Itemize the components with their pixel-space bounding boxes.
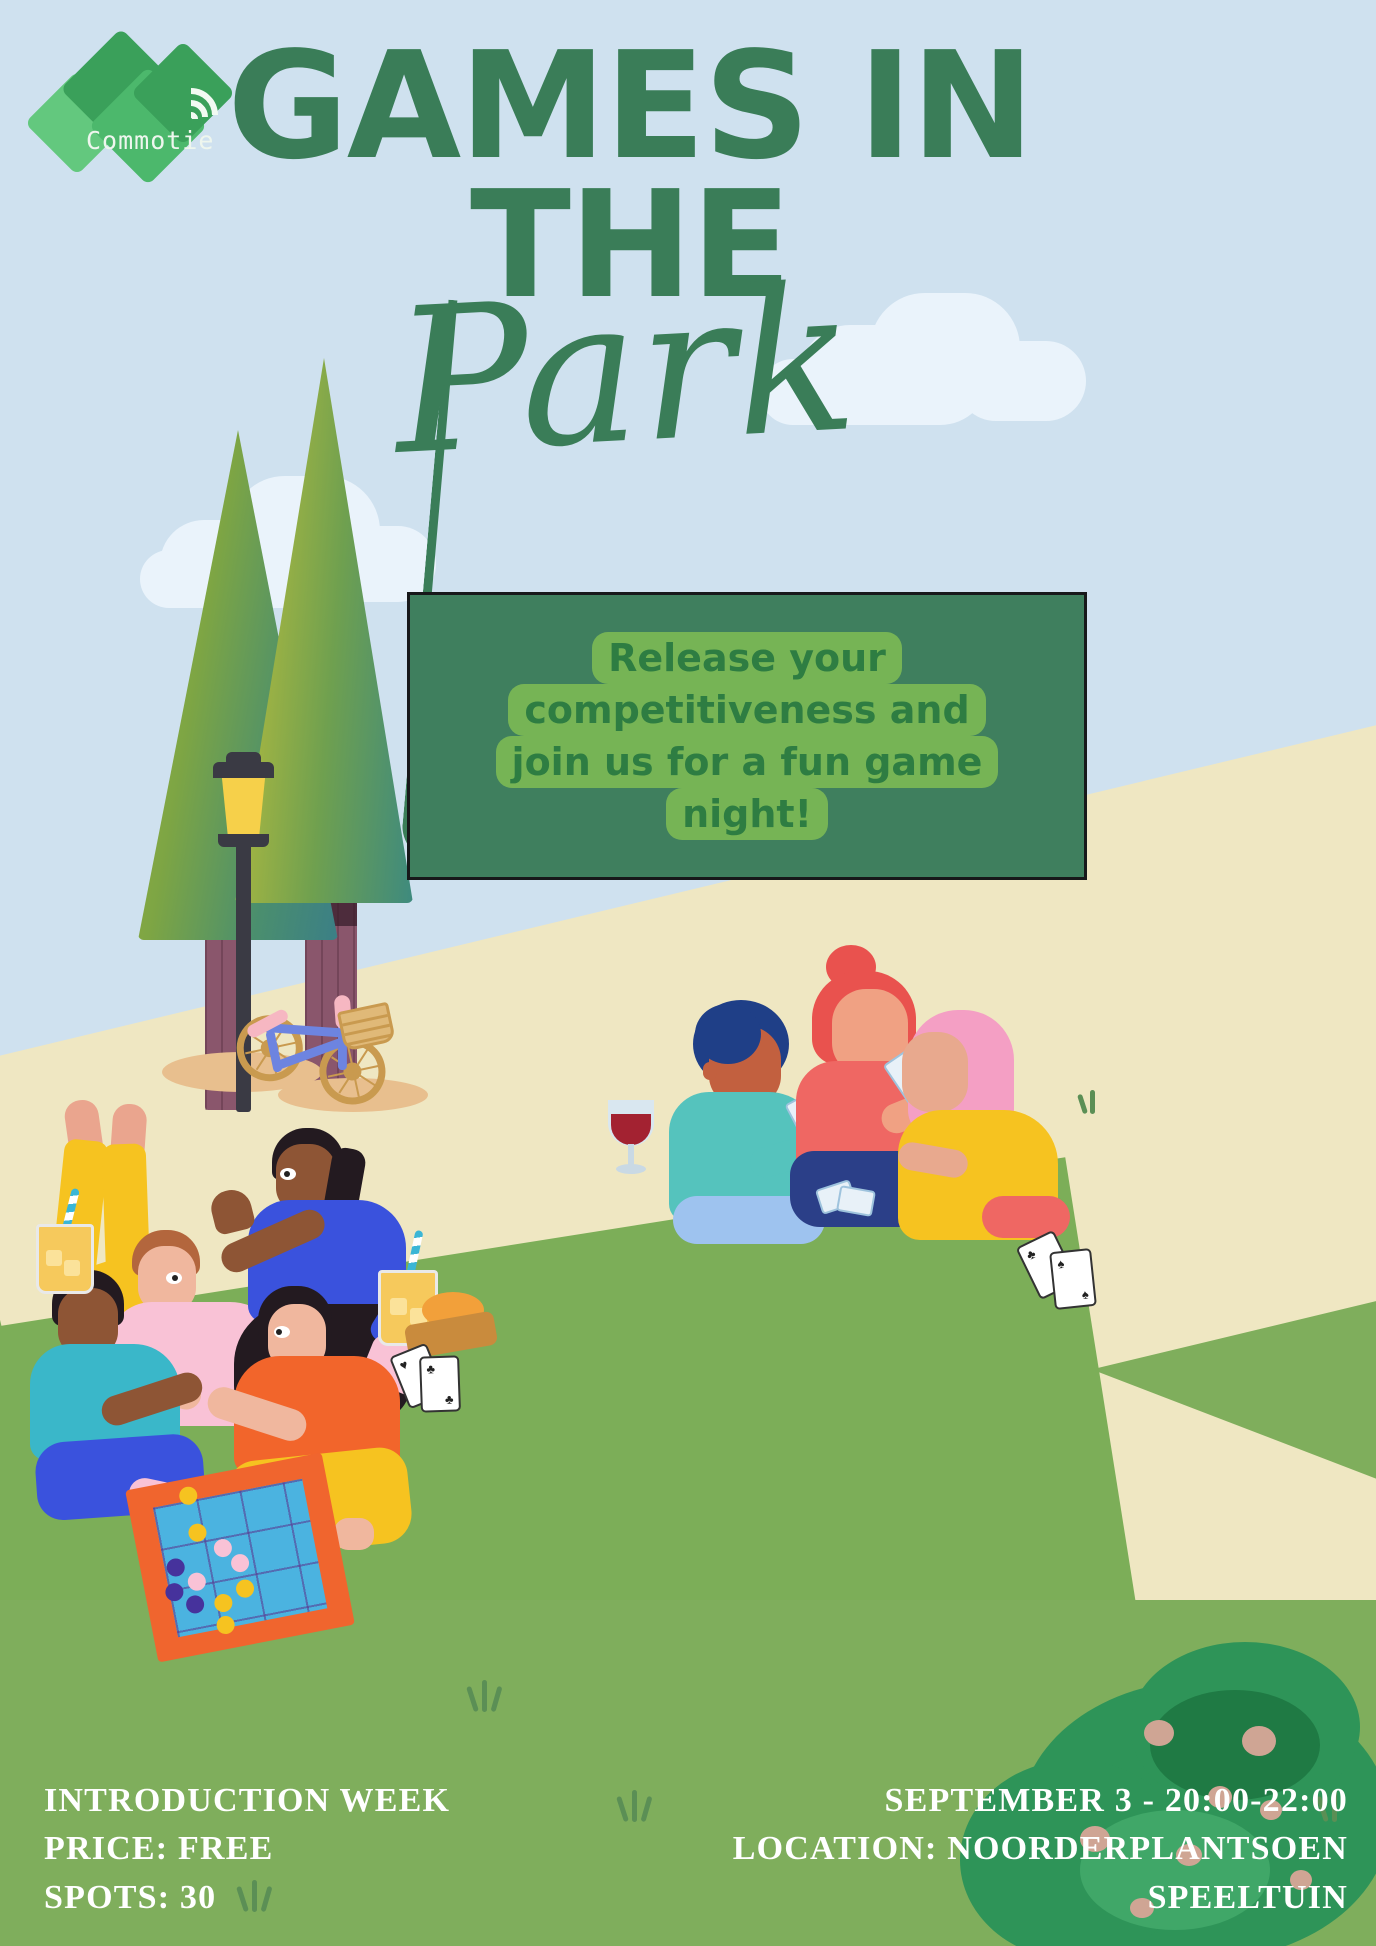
- playing-card-scatter: ♣ ♣: [419, 1355, 461, 1412]
- callout-line: Release your: [592, 632, 902, 684]
- poster-canvas: Commotie GAMES IN THE Park Release your …: [0, 0, 1376, 1946]
- title-script-word: Park: [385, 260, 865, 484]
- footer: INTRODUCTION WEEK PRICE: FREE SPOTS: 30 …: [0, 1746, 1376, 1946]
- footer-left-block: INTRODUCTION WEEK PRICE: FREE SPOTS: 30: [44, 1777, 450, 1922]
- person-foot: [334, 1518, 374, 1550]
- callout-box: Release your competitiveness and join us…: [407, 592, 1087, 880]
- playing-card-scatter: ♠ ♠: [1049, 1248, 1097, 1310]
- footer-left-line: PRICE: FREE: [44, 1825, 450, 1873]
- callout-line: night!: [666, 788, 828, 840]
- callout-line: join us for a fun game: [496, 736, 999, 788]
- person-pupil: [276, 1329, 282, 1335]
- wine-glass-base: [616, 1164, 646, 1174]
- card-player-right: [898, 1010, 1068, 1245]
- wine-glass-stem: [628, 1144, 634, 1166]
- callout-text-stack: Release your competitiveness and join us…: [410, 595, 1084, 877]
- footer-right-line: SEPTEMBER 3 - 20:00-22:00: [733, 1777, 1348, 1825]
- player-hair-front: [695, 1004, 761, 1064]
- bush-flower: [1144, 1720, 1174, 1746]
- board-game: [125, 1453, 355, 1663]
- footer-left-line: INTRODUCTION WEEK: [44, 1777, 450, 1825]
- footer-left-line: SPOTS: 30: [44, 1874, 450, 1922]
- grass-tuft: [1080, 1090, 1110, 1116]
- ice-cube: [46, 1250, 62, 1266]
- juice-glass-body: [36, 1224, 94, 1294]
- player-legs: [982, 1196, 1070, 1238]
- footer-right-block: SEPTEMBER 3 - 20:00-22:00 LOCATION: NOOR…: [733, 1777, 1348, 1922]
- brand-logo: Commotie: [34, 40, 234, 185]
- footer-right-line: LOCATION: NOORDERPLANTSOEN: [733, 1825, 1348, 1873]
- street-lamp-cap: [226, 752, 261, 764]
- ice-cube: [64, 1260, 80, 1276]
- logo-wordmark: Commotie: [86, 126, 214, 155]
- ice-cube: [390, 1298, 407, 1315]
- street-lamp-base: [218, 834, 269, 847]
- player-ear: [703, 1062, 717, 1080]
- footer-right-line: SPEELTUIN: [733, 1874, 1348, 1922]
- street-lamp-head: [213, 762, 274, 778]
- callout-line: competitiveness and: [508, 684, 985, 736]
- wine-glass: [608, 1100, 654, 1174]
- grass-tuft: [470, 1680, 510, 1714]
- pine-tree-right: [235, 358, 413, 903]
- player-head: [902, 1032, 968, 1112]
- juice-glass-left: [36, 1210, 96, 1294]
- person-pupil: [284, 1171, 290, 1177]
